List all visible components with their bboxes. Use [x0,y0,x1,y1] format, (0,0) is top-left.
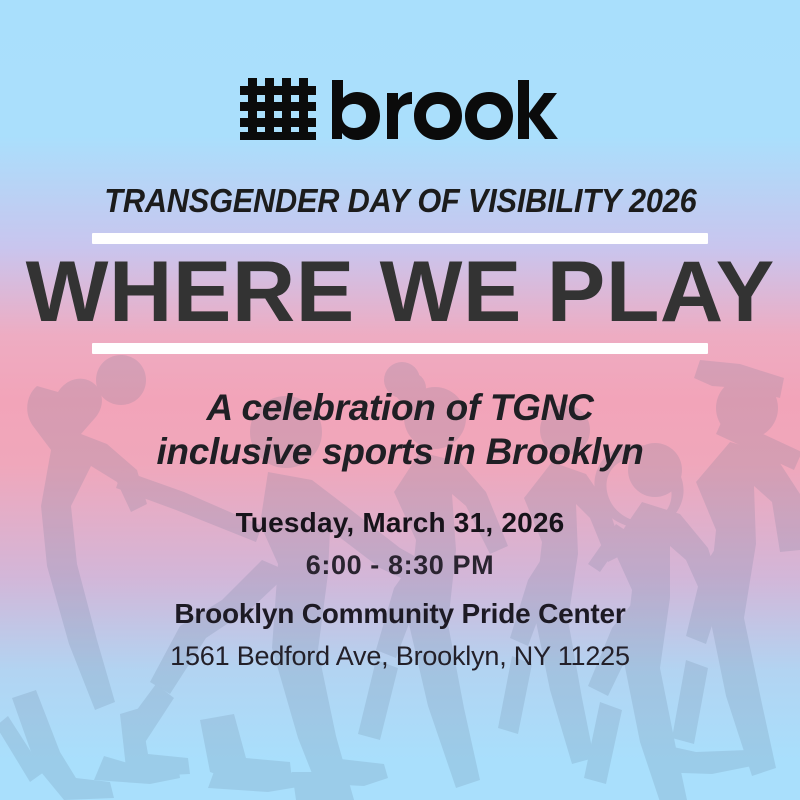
event-address: 1561 Bedford Ave, Brooklyn, NY 11225 [170,641,630,672]
event-subtitle-line-2: inclusive sports in Brooklyn [156,430,643,474]
logo-artwork [240,76,560,154]
divider-rule-bottom [92,343,708,354]
event-kicker: TRANSGENDER DAY OF VISIBILITY 2026 [104,182,696,220]
brooklyn-community-pride-center-logo [0,76,800,154]
brooklyn-grid-mark-icon [240,78,316,140]
divider-rule-top [92,233,708,244]
event-date: Tuesday, March 31, 2026 [170,507,630,539]
event-details: Tuesday, March 31, 2026 6:00 - 8:30 PM B… [170,507,630,672]
event-subtitle-line-1: A celebration of TGNC [156,386,643,430]
poster-content: TRANSGENDER DAY OF VISIBILITY 2026 WHERE… [0,0,800,800]
event-venue: Brooklyn Community Pride Center [170,598,630,630]
brooklyn-wordmark-icon [332,80,558,140]
event-subtitle: A celebration of TGNC inclusive sports i… [156,386,643,473]
page-title: WHERE WE PLAY [25,253,774,332]
event-time: 6:00 - 8:30 PM [170,550,630,581]
event-poster: TRANSGENDER DAY OF VISIBILITY 2026 WHERE… [0,0,800,800]
